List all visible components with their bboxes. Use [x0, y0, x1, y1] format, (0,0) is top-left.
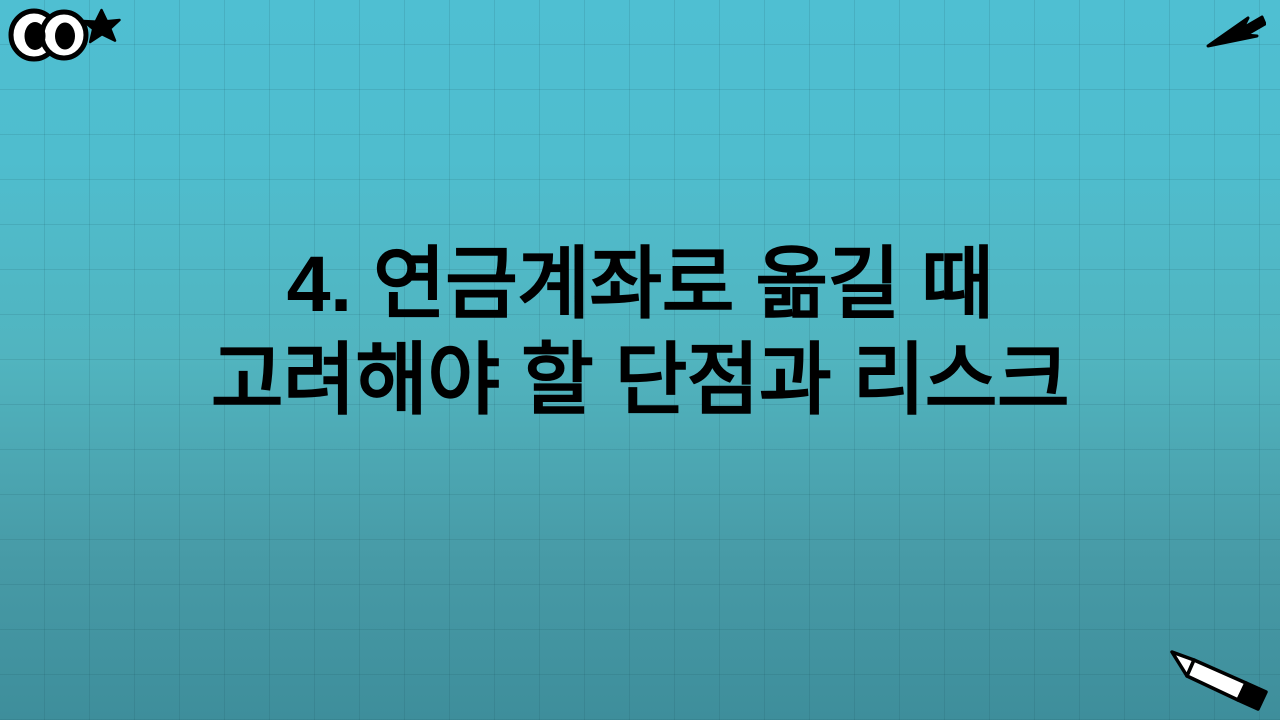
- pencil-icon: [1158, 636, 1276, 714]
- page-title: 4. 연금계좌로 옮길 때 고려해야 할 단점과 리스크: [0, 236, 1280, 429]
- slide-canvas: 4. 연금계좌로 옮길 때 고려해야 할 단점과 리스크: [0, 0, 1280, 720]
- title-line-2: 고려해야 할 단점과 리스크: [40, 332, 1240, 428]
- arrow-icon: [1204, 6, 1266, 54]
- star-icon: [80, 6, 122, 48]
- eyes-icon: [8, 6, 90, 62]
- title-line-1: 4. 연금계좌로 옮길 때: [40, 236, 1240, 332]
